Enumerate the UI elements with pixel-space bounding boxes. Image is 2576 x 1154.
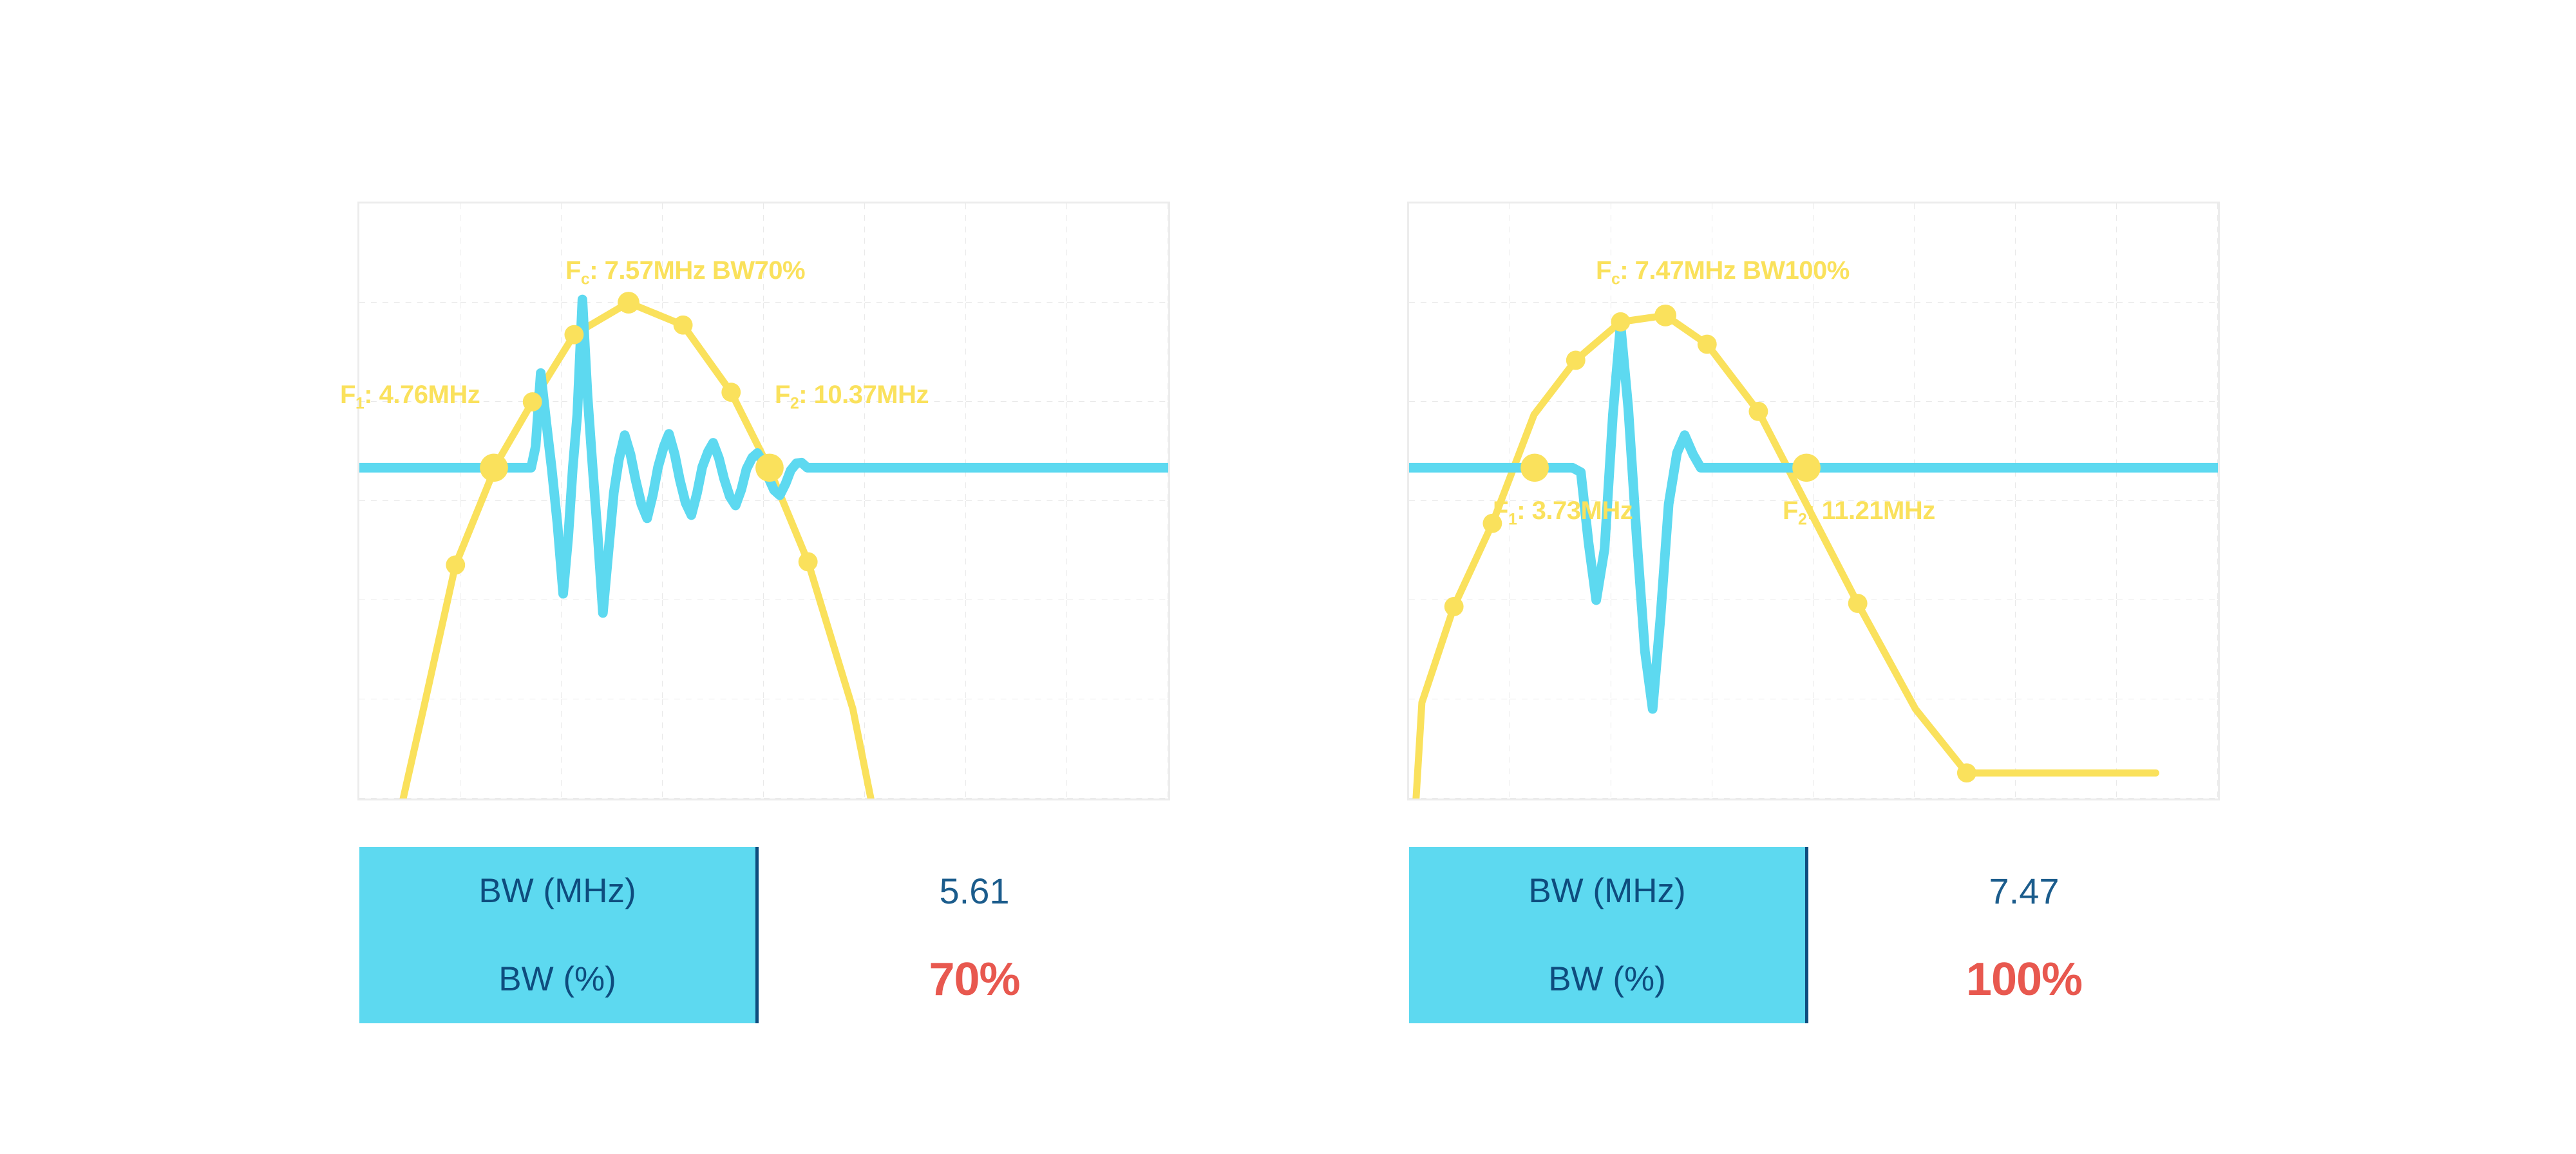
table-row: BW (%) 100% (1409, 935, 2240, 1023)
table-value-bw-percent: 70% (759, 935, 1190, 1023)
bandwidth-table-narrowband: BW (MHz) 5.61 BW (%) 70% (359, 847, 1190, 1023)
figure-canvas: Fc: 7.57MHz BW70% F1: 4.76MHz F2: 10.37M… (0, 0, 2576, 1154)
bw-percent-value: 100% (1966, 953, 2082, 1006)
table-row: BW (MHz) 5.61 (359, 847, 1190, 935)
panel-narrowband: Fc: 7.57MHz BW70% F1: 4.76MHz F2: 10.37M… (193, 0, 1288, 1154)
label-center-frequency-narrowband: Fc: 7.57MHz BW70% (565, 256, 805, 289)
marker-f2-narrowband (755, 453, 784, 482)
label-lower-frequency-narrowband: F1: 4.76MHz (340, 381, 480, 413)
table-key-bw-mhz: BW (MHz) (1409, 847, 1808, 935)
bw-mhz-value: 5.61 (940, 870, 1010, 912)
table-value-bw-mhz: 7.47 (1808, 847, 2240, 935)
label-lower-frequency-broadband: F1: 3.73MHz (1493, 497, 1633, 529)
table-row: BW (%) 70% (359, 935, 1190, 1023)
spectrum-plot-svg-narrowband (359, 203, 1168, 799)
panel-broadband: Fc: 7.47MHz BW100% F1: 3.73MHz F2: 11.21… (1243, 0, 2338, 1154)
table-key-bw-mhz: BW (MHz) (359, 847, 759, 935)
table-value-bw-percent: 100% (1808, 935, 2240, 1023)
table-key-bw-percent: BW (%) (359, 935, 759, 1023)
label-upper-frequency-narrowband: F2: 10.37MHz (775, 381, 929, 413)
spectrum-plot-broadband: Fc: 7.47MHz BW100% F1: 3.73MHz F2: 11.21… (1407, 202, 2220, 800)
table-key-bw-percent: BW (%) (1409, 935, 1808, 1023)
table-value-bw-mhz: 5.61 (759, 847, 1190, 935)
label-center-frequency-broadband: Fc: 7.47MHz BW100% (1596, 256, 1850, 289)
spectrum-plot-narrowband: Fc: 7.57MHz BW70% F1: 4.76MHz F2: 10.37M… (357, 202, 1170, 800)
marker-f1-broadband (1520, 453, 1549, 482)
bw-mhz-value: 7.47 (1989, 870, 2060, 912)
marker-f2-broadband (1792, 453, 1821, 482)
bw-percent-value: 70% (929, 953, 1019, 1006)
table-row: BW (MHz) 7.47 (1409, 847, 2240, 935)
marker-f1-narrowband (480, 453, 508, 482)
bandwidth-table-broadband: BW (MHz) 7.47 BW (%) 100% (1409, 847, 2240, 1023)
label-upper-frequency-broadband: F2: 11.21MHz (1783, 497, 1935, 529)
